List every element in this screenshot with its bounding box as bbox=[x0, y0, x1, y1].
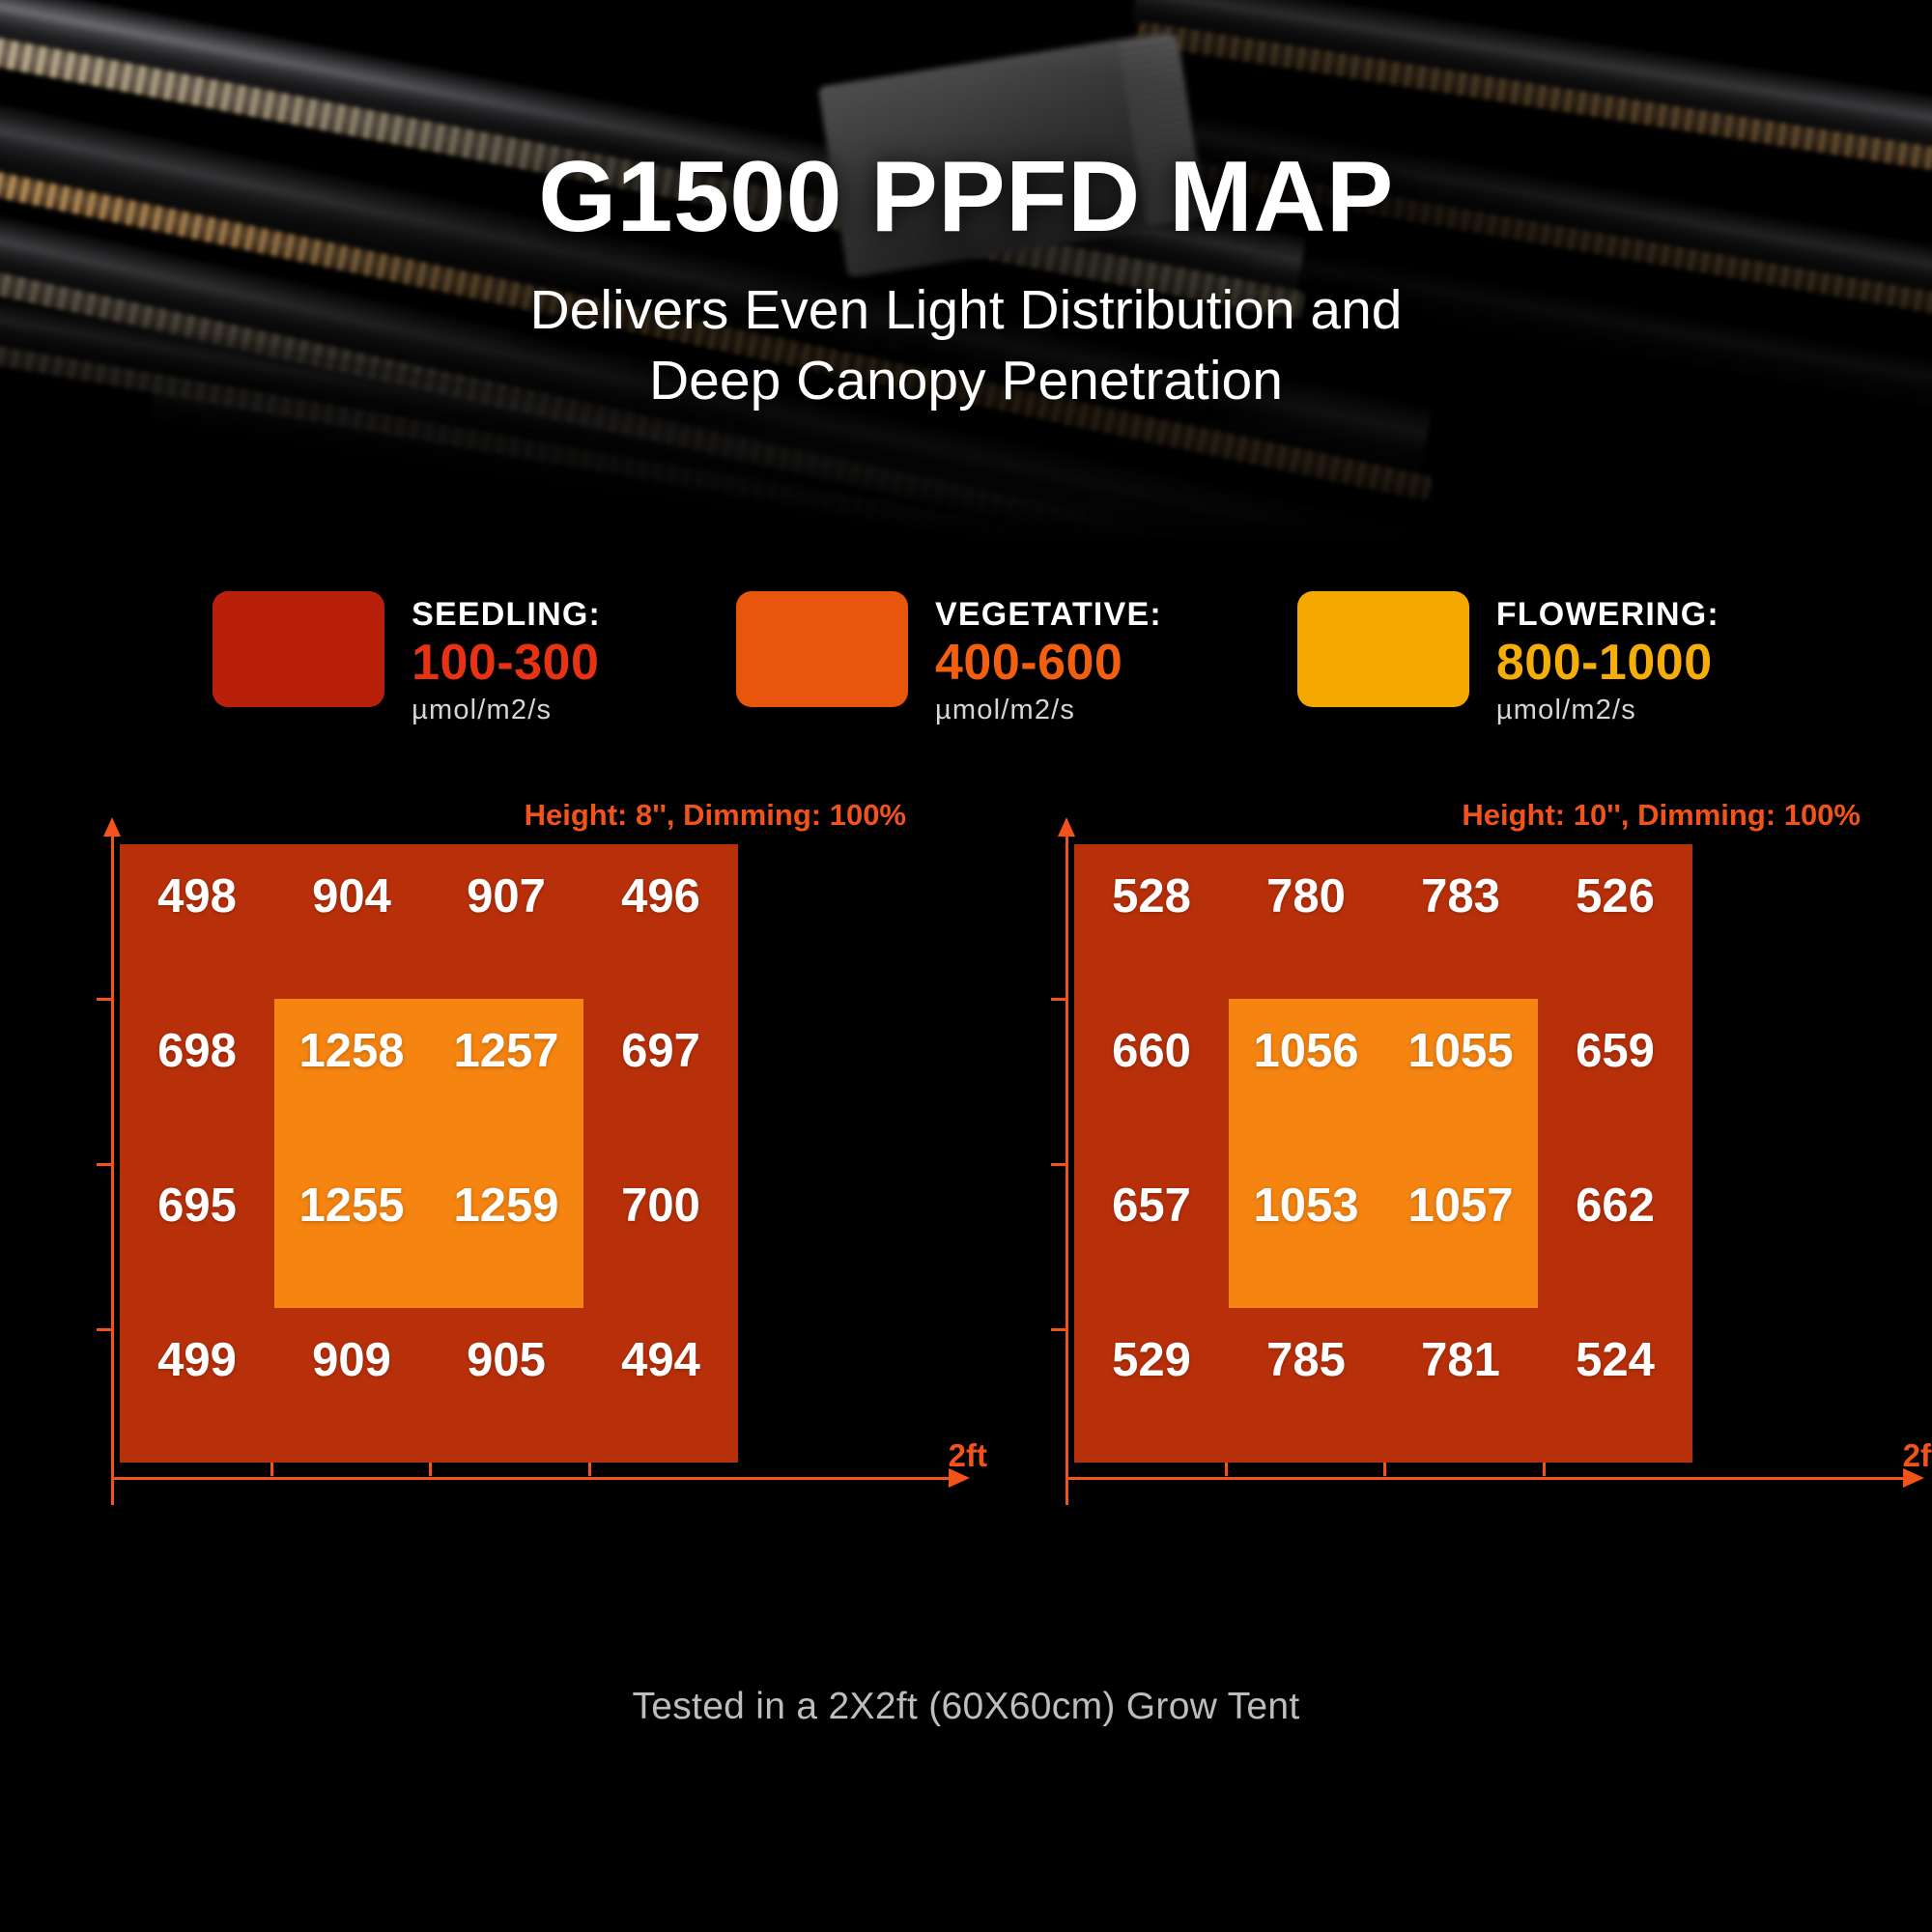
legend-unit-label: µmol/m2/s bbox=[1496, 695, 1719, 726]
chart-header-label: Height: 10'', Dimming: 100% bbox=[1462, 798, 1861, 833]
legend-item: FLOWERING:800-1000µmol/m2/s bbox=[1297, 591, 1719, 726]
x-axis-tick bbox=[1225, 1461, 1228, 1476]
heatmap-cell: 905 bbox=[467, 1333, 546, 1387]
x-axis-tick bbox=[588, 1461, 591, 1476]
legend-unit-label: µmol/m2/s bbox=[935, 695, 1162, 726]
page-subtitle: Delivers Even Light Distribution and Dee… bbox=[530, 275, 1403, 416]
x-axis-tick bbox=[1383, 1461, 1386, 1476]
heatmap-cell: 1255 bbox=[298, 1179, 404, 1233]
heatmap-cell: 1258 bbox=[298, 1024, 404, 1078]
y-axis bbox=[102, 817, 120, 1505]
heatmap-cell: 785 bbox=[1266, 1333, 1346, 1387]
subtitle-line-2: Deep Canopy Penetration bbox=[530, 346, 1403, 416]
y-axis-tick bbox=[1051, 1328, 1065, 1331]
y-axis-tick bbox=[1051, 998, 1065, 1001]
legend-color-swatch bbox=[213, 591, 384, 707]
chart-header-label: Height: 8'', Dimming: 100% bbox=[525, 798, 906, 833]
heatmap-cell: 907 bbox=[467, 869, 546, 923]
subtitle-line-1: Delivers Even Light Distribution and bbox=[530, 275, 1403, 346]
footer-note: Tested in a 2X2ft (60X60cm) Grow Tent bbox=[0, 1686, 1932, 1728]
legend-stage-label: SEEDLING: bbox=[412, 597, 601, 633]
heatmap-cell: 662 bbox=[1576, 1179, 1655, 1233]
y-axis-tick bbox=[1051, 1163, 1065, 1166]
chart-plot-area: 2ft02ft528780783526660105610556596571053… bbox=[1074, 844, 1868, 1463]
x-axis-arrow-icon bbox=[1903, 1468, 1924, 1488]
heatmap-cell: 496 bbox=[621, 869, 700, 923]
heatmap-cell: 909 bbox=[312, 1333, 391, 1387]
x-axis-tick bbox=[1543, 1461, 1546, 1476]
heatmap-cell: 781 bbox=[1421, 1333, 1500, 1387]
heatmap-cell: 1257 bbox=[453, 1024, 558, 1078]
heatmap-cell: 524 bbox=[1576, 1333, 1655, 1387]
heatmap-cell: 660 bbox=[1112, 1024, 1191, 1078]
y-axis-tick bbox=[97, 1163, 111, 1166]
legend-text-group: SEEDLING:100-300µmol/m2/s bbox=[412, 591, 601, 726]
legend-stage-label: FLOWERING: bbox=[1496, 597, 1719, 633]
legend-color-swatch bbox=[1297, 591, 1469, 707]
y-axis-tick bbox=[97, 998, 111, 1001]
heatmap-cell: 1055 bbox=[1407, 1024, 1513, 1078]
x-axis-line bbox=[1065, 1477, 1903, 1480]
legend-stage-label: VEGETATIVE: bbox=[935, 597, 1162, 633]
ppfd-chart: Height: 8'', Dimming: 100%2ft02ft4989049… bbox=[64, 800, 914, 1463]
legend-item: VEGETATIVE:400-600µmol/m2/s bbox=[736, 591, 1162, 726]
x-axis-tick bbox=[429, 1461, 432, 1476]
heatmap-cell: 783 bbox=[1421, 869, 1500, 923]
y-axis-line bbox=[111, 833, 114, 1505]
heatmap-cell: 1056 bbox=[1253, 1024, 1358, 1078]
legend-range-value: 100-300 bbox=[412, 635, 601, 693]
y-axis-tick bbox=[97, 1328, 111, 1331]
x-axis-tick bbox=[270, 1461, 273, 1476]
page-title: G1500 PPFD MAP bbox=[538, 145, 1394, 250]
legend-range-value: 800-1000 bbox=[1496, 635, 1719, 693]
heatmap-cell: 529 bbox=[1112, 1333, 1191, 1387]
y-axis bbox=[1057, 817, 1074, 1505]
heatmap-cell: 499 bbox=[157, 1333, 237, 1387]
heatmap-cell: 697 bbox=[621, 1024, 700, 1078]
heatmap-cell: 698 bbox=[157, 1024, 237, 1078]
x-axis-arrow-icon bbox=[949, 1468, 970, 1488]
chart-plot-area: 2ft02ft498904907496698125812576976951255… bbox=[120, 844, 914, 1463]
legend-text-group: FLOWERING:800-1000µmol/m2/s bbox=[1496, 591, 1719, 726]
legend-unit-label: µmol/m2/s bbox=[412, 695, 601, 726]
heatmap-cell: 904 bbox=[312, 869, 391, 923]
ppfd-chart: Height: 10'', Dimming: 100%2ft02ft528780… bbox=[1018, 800, 1868, 1463]
heatmap-cell: 498 bbox=[157, 869, 237, 923]
y-axis-line bbox=[1065, 833, 1068, 1505]
heatmap-cell: 1259 bbox=[453, 1179, 558, 1233]
heatmap-cell: 657 bbox=[1112, 1179, 1191, 1233]
x-axis-line bbox=[111, 1477, 949, 1480]
heatmap-cell: 695 bbox=[157, 1179, 237, 1233]
legend-color-swatch bbox=[736, 591, 908, 707]
heatmap-cell: 526 bbox=[1576, 869, 1655, 923]
legend-range-value: 400-600 bbox=[935, 635, 1162, 693]
ppfd-legend: SEEDLING:100-300µmol/m2/sVEGETATIVE:400-… bbox=[0, 591, 1932, 726]
heatmap-cell: 700 bbox=[621, 1179, 700, 1233]
heatmap-cell: 1057 bbox=[1407, 1179, 1513, 1233]
ppfd-charts-container: Height: 8'', Dimming: 100%2ft02ft4989049… bbox=[0, 800, 1932, 1463]
heatmap-cell: 494 bbox=[621, 1333, 700, 1387]
legend-item: SEEDLING:100-300µmol/m2/s bbox=[213, 591, 601, 726]
heatmap: 5287807835266601056105565965710531057662… bbox=[1074, 844, 1692, 1463]
legend-text-group: VEGETATIVE:400-600µmol/m2/s bbox=[935, 591, 1162, 726]
heatmap-cell: 528 bbox=[1112, 869, 1191, 923]
heatmap-cell: 1053 bbox=[1253, 1179, 1358, 1233]
x-axis bbox=[102, 1468, 970, 1488]
heatmap: 4989049074966981258125769769512551259700… bbox=[120, 844, 738, 1463]
heatmap-cell: 659 bbox=[1576, 1024, 1655, 1078]
x-axis bbox=[1057, 1468, 1924, 1488]
heatmap-cell: 780 bbox=[1266, 869, 1346, 923]
header-block: G1500 PPFD MAP Delivers Even Light Distr… bbox=[0, 0, 1932, 541]
